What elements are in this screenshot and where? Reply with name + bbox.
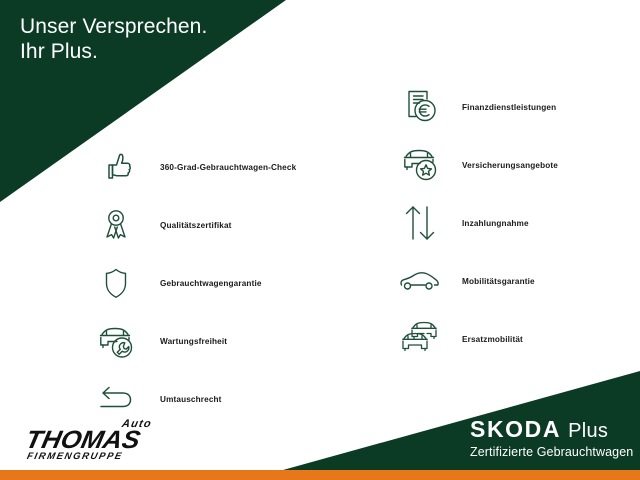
feature-label: Mobilitätsgarantie bbox=[448, 277, 535, 286]
headline-line-1: Unser Versprechen. bbox=[20, 15, 207, 38]
up-down-arrows-icon bbox=[392, 198, 448, 248]
brand-logo-row: SKODA Plus bbox=[470, 416, 630, 443]
orange-accent-bar bbox=[0, 470, 640, 480]
brand-logo-plus: Plus bbox=[568, 420, 608, 443]
car-wrench-icon bbox=[88, 316, 144, 366]
thumbs-up-icon bbox=[88, 142, 144, 192]
feature-item-trade-in: Inzahlungnahme bbox=[392, 194, 640, 252]
dealer-logo: Auto THOMAS FIRMENGRUPPE bbox=[26, 418, 156, 462]
feature-label: Umtauschrecht bbox=[144, 395, 222, 404]
car-side-icon bbox=[392, 256, 448, 306]
feature-label: Gebrauchtwagengarantie bbox=[144, 279, 262, 288]
brand-logo-subtitle: Zertifizierte Gebrauchtwagen bbox=[470, 445, 630, 459]
feature-item-used-car-warranty: Gebrauchtwagengarantie bbox=[88, 254, 368, 312]
brand-logo: SKODA Plus Zertifizierte Gebrauchtwagen bbox=[470, 416, 630, 459]
feature-label: Wartungsfreiheit bbox=[144, 337, 227, 346]
feature-list-left: 360-Grad-Gebrauchtwagen-Check Qualitätsz… bbox=[88, 138, 368, 428]
feature-label: Versicherungsangebote bbox=[448, 161, 558, 170]
feature-label: Inzahlungnahme bbox=[448, 219, 529, 228]
feature-item-financial-services: Finanzdienstleistungen bbox=[392, 78, 640, 136]
promo-banner: Unser Versprechen.Ihr Plus. 360-Grad-Geb… bbox=[0, 0, 640, 480]
feature-item-360-check: 360-Grad-Gebrauchtwagen-Check bbox=[88, 138, 368, 196]
feature-label: Qualitätszertifikat bbox=[144, 221, 232, 230]
brand-logo-mark: SKODA bbox=[470, 416, 561, 443]
feature-list-right: Finanzdienstleistungen Versicherungsange… bbox=[392, 78, 640, 368]
two-cars-icon bbox=[392, 314, 448, 364]
feature-item-maintenance-free: Wartungsfreiheit bbox=[88, 312, 368, 370]
shield-icon bbox=[88, 258, 144, 308]
dealer-logo-group: FIRMENGRUPPE bbox=[26, 451, 124, 462]
feature-item-insurance-offers: Versicherungsangebote bbox=[392, 136, 640, 194]
car-star-icon bbox=[392, 140, 448, 190]
feature-item-quality-certificate: Qualitätszertifikat bbox=[88, 196, 368, 254]
document-euro-icon bbox=[392, 82, 448, 132]
award-rosette-icon bbox=[88, 200, 144, 250]
feature-label: Finanzdienstleistungen bbox=[448, 103, 556, 112]
page-title: Unser Versprechen.Ihr Plus. bbox=[20, 14, 207, 64]
feature-label: Ersatzmobilität bbox=[448, 335, 523, 344]
return-arrow-icon bbox=[88, 374, 144, 424]
feature-item-mobility-guarantee: Mobilitätsgarantie bbox=[392, 252, 640, 310]
headline-line-2: Ihr Plus. bbox=[20, 40, 98, 63]
feature-label: 360-Grad-Gebrauchtwagen-Check bbox=[144, 163, 296, 172]
feature-item-replacement-mobility: Ersatzmobilität bbox=[392, 310, 640, 368]
